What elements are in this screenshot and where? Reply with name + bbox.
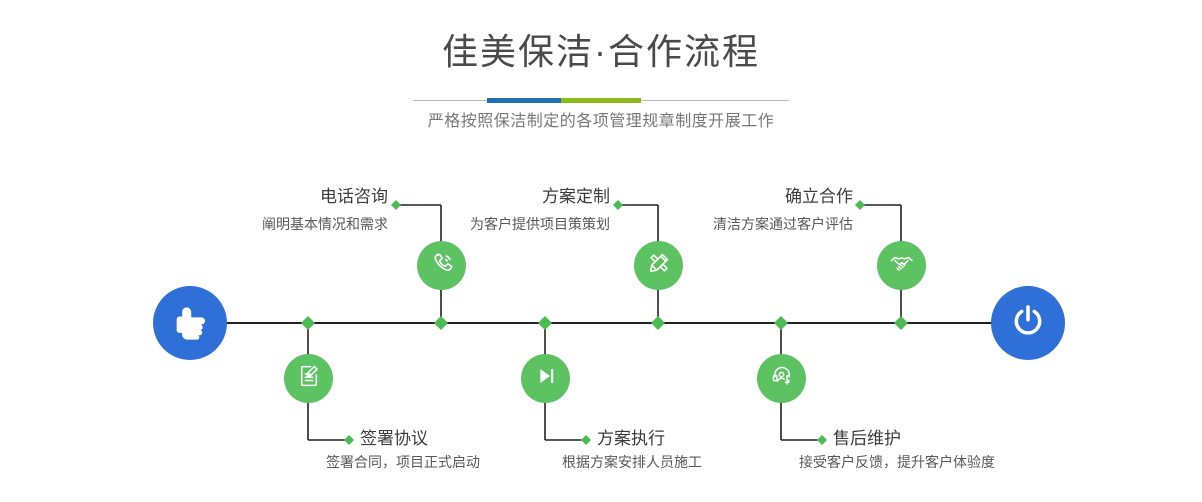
diamond-node-1 xyxy=(301,316,315,330)
diamond-label-1 xyxy=(391,200,401,210)
step-label-1: 电话咨询 xyxy=(200,186,388,208)
diamond-label-5 xyxy=(855,200,865,210)
document-edit-icon xyxy=(296,363,322,394)
step-desc-4: 根据方案安排人员施工 xyxy=(562,452,702,472)
diamond-node-3 xyxy=(538,316,552,330)
handshake-icon xyxy=(888,250,915,282)
step-icon-handshake[interactable] xyxy=(877,241,926,290)
pointing-hand-icon xyxy=(170,301,210,346)
diamond-node-2 xyxy=(434,316,448,330)
step-icon-customer-service[interactable] xyxy=(757,354,806,403)
step-desc-5: 清洁方案通过客户评估 xyxy=(600,214,853,234)
step-label-3: 方案定制 xyxy=(420,186,610,208)
diamond-label-6 xyxy=(817,435,827,445)
process-flow-diagram: 电话咨询 阐明基本情况和需求 方案定制 为客户提供项目策策划 xyxy=(0,0,1202,502)
customer-service-icon xyxy=(769,363,795,394)
diamond-label-2 xyxy=(344,435,354,445)
flow-connectors xyxy=(0,0,1202,502)
step-icon-phone-call[interactable] xyxy=(417,241,466,290)
step-label-6: 售后维护 xyxy=(833,428,901,450)
diamond-node-4 xyxy=(651,316,665,330)
flow-chart-page: 佳美保洁·合作流程 严格按照保洁制定的各项管理规章制度开展工作 xyxy=(0,0,1202,502)
power-icon xyxy=(1008,301,1048,346)
diamond-label-3 xyxy=(613,200,623,210)
step-desc-3: 为客户提供项目策策划 xyxy=(360,214,610,234)
diamond-label-4 xyxy=(581,435,591,445)
step-icon-play-execute[interactable] xyxy=(521,354,570,403)
flow-end-node[interactable] xyxy=(991,286,1065,360)
diamond-node-5 xyxy=(774,316,788,330)
step-icon-pencil-ruler[interactable] xyxy=(634,241,683,290)
step-label-5: 确立合作 xyxy=(665,186,853,208)
step-label-4: 方案执行 xyxy=(597,428,665,450)
step-label-2: 签署协议 xyxy=(360,428,428,450)
diamond-node-6 xyxy=(894,316,908,330)
phone-call-icon xyxy=(429,250,455,281)
step-icon-document-edit[interactable] xyxy=(284,354,333,403)
pencil-ruler-icon xyxy=(646,250,672,281)
step-desc-1: 阐明基本情况和需求 xyxy=(140,214,388,234)
play-execute-icon xyxy=(533,363,559,394)
step-desc-2: 签署合同，项目正式启动 xyxy=(326,452,480,472)
step-desc-6: 接受客户反馈，提升客户体验度 xyxy=(799,452,995,472)
flow-start-node[interactable] xyxy=(153,286,227,360)
